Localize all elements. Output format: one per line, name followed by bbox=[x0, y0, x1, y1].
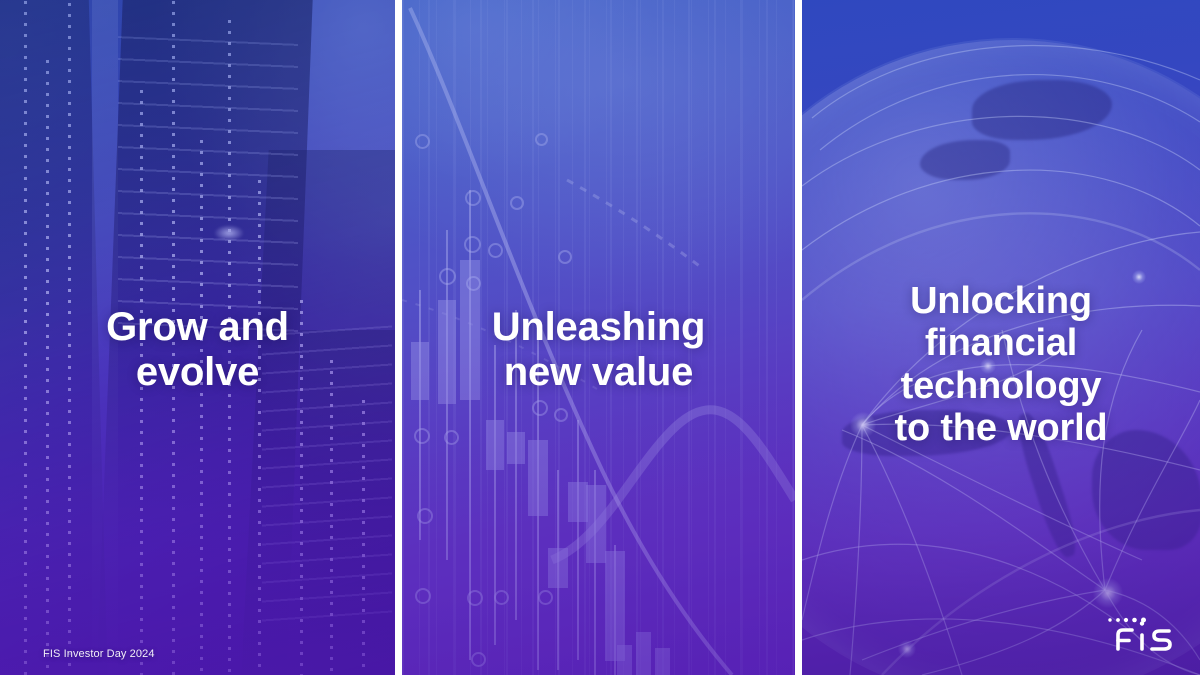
fis-logo-wordmark bbox=[1118, 630, 1170, 649]
panel-unleashing-new-value[interactable]: Unleashing new value bbox=[402, 0, 795, 675]
fis-logo[interactable] bbox=[1088, 611, 1176, 657]
panel-3-headline: Unlocking financial technology to the wo… bbox=[802, 280, 1200, 450]
fis-logo-dots bbox=[1108, 618, 1146, 623]
presentation-slide: Grow and evolve FIS Investor Day 2024 bbox=[0, 0, 1200, 675]
panel-1-headline: Grow and evolve bbox=[0, 305, 395, 395]
fis-logo-i-dot bbox=[1140, 621, 1144, 625]
fis-logo-mark bbox=[1088, 611, 1176, 657]
panel-unlocking-financial-technology[interactable]: Unlocking financial technology to the wo… bbox=[802, 0, 1200, 675]
panel-2-headline: Unleashing new value bbox=[402, 305, 795, 395]
panel-grow-and-evolve[interactable]: Grow and evolve FIS Investor Day 2024 bbox=[0, 0, 395, 675]
footer-event-label: FIS Investor Day 2024 bbox=[43, 648, 155, 660]
